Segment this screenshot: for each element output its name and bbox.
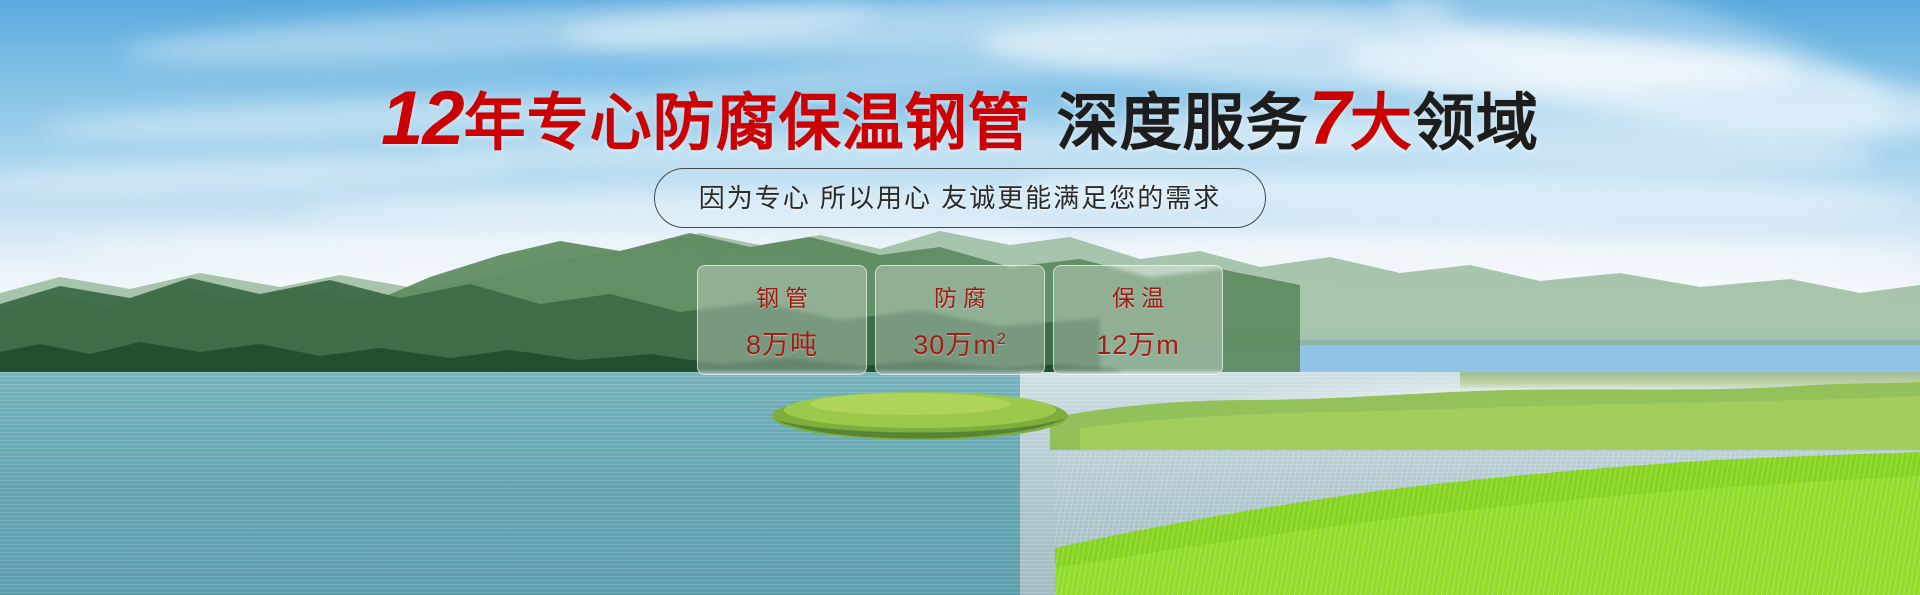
headline-part-one: 年专心防腐保温钢管 [464, 89, 1031, 158]
stat-card-steel-pipe[interactable]: 钢管 8万吨 [697, 265, 867, 375]
stat-card-title: 防腐 [928, 279, 992, 313]
stat-card-title: 保温 [1106, 279, 1170, 313]
stat-card-value: 12万m [1096, 323, 1180, 362]
headline-fields-number: 7 [1309, 76, 1350, 161]
stat-card-value: 30万m2 [913, 323, 1006, 362]
stat-card-value-text: 30万m [913, 330, 997, 360]
stat-card-value-text: 8万吨 [746, 330, 818, 360]
stat-card-value: 8万吨 [746, 323, 818, 362]
stat-card-value-text: 12万m [1096, 330, 1180, 360]
banner-headline: 12年专心防腐保温钢管深度服务7大领域 [0, 83, 1920, 160]
stat-card-group: 钢管 8万吨 防腐 30万m2 保温 12万m [0, 265, 1920, 375]
stat-card-anticorrosion[interactable]: 防腐 30万m2 [875, 265, 1045, 375]
stat-card-value-superscript: 2 [997, 331, 1007, 348]
grass-texture [1055, 452, 1920, 595]
stat-card-title: 钢管 [750, 279, 814, 313]
headline-part-four: 领域 [1413, 89, 1539, 158]
hero-banner: 12年专心防腐保温钢管深度服务7大领域 因为专心 所以用心 友诚更能满足您的需求… [0, 0, 1920, 595]
grass-islet [770, 390, 1070, 448]
stat-card-insulation[interactable]: 保温 12万m [1053, 265, 1223, 375]
marsh-bank [1040, 370, 1920, 450]
headline-years-number: 12 [381, 76, 464, 161]
banner-subtitle-wrap: 因为专心 所以用心 友诚更能满足您的需求 [0, 168, 1920, 228]
banner-subtitle: 因为专心 所以用心 友诚更能满足您的需求 [654, 168, 1266, 228]
headline-part-two: 深度服务 [1057, 89, 1309, 158]
headline-part-three: 大 [1350, 89, 1413, 158]
